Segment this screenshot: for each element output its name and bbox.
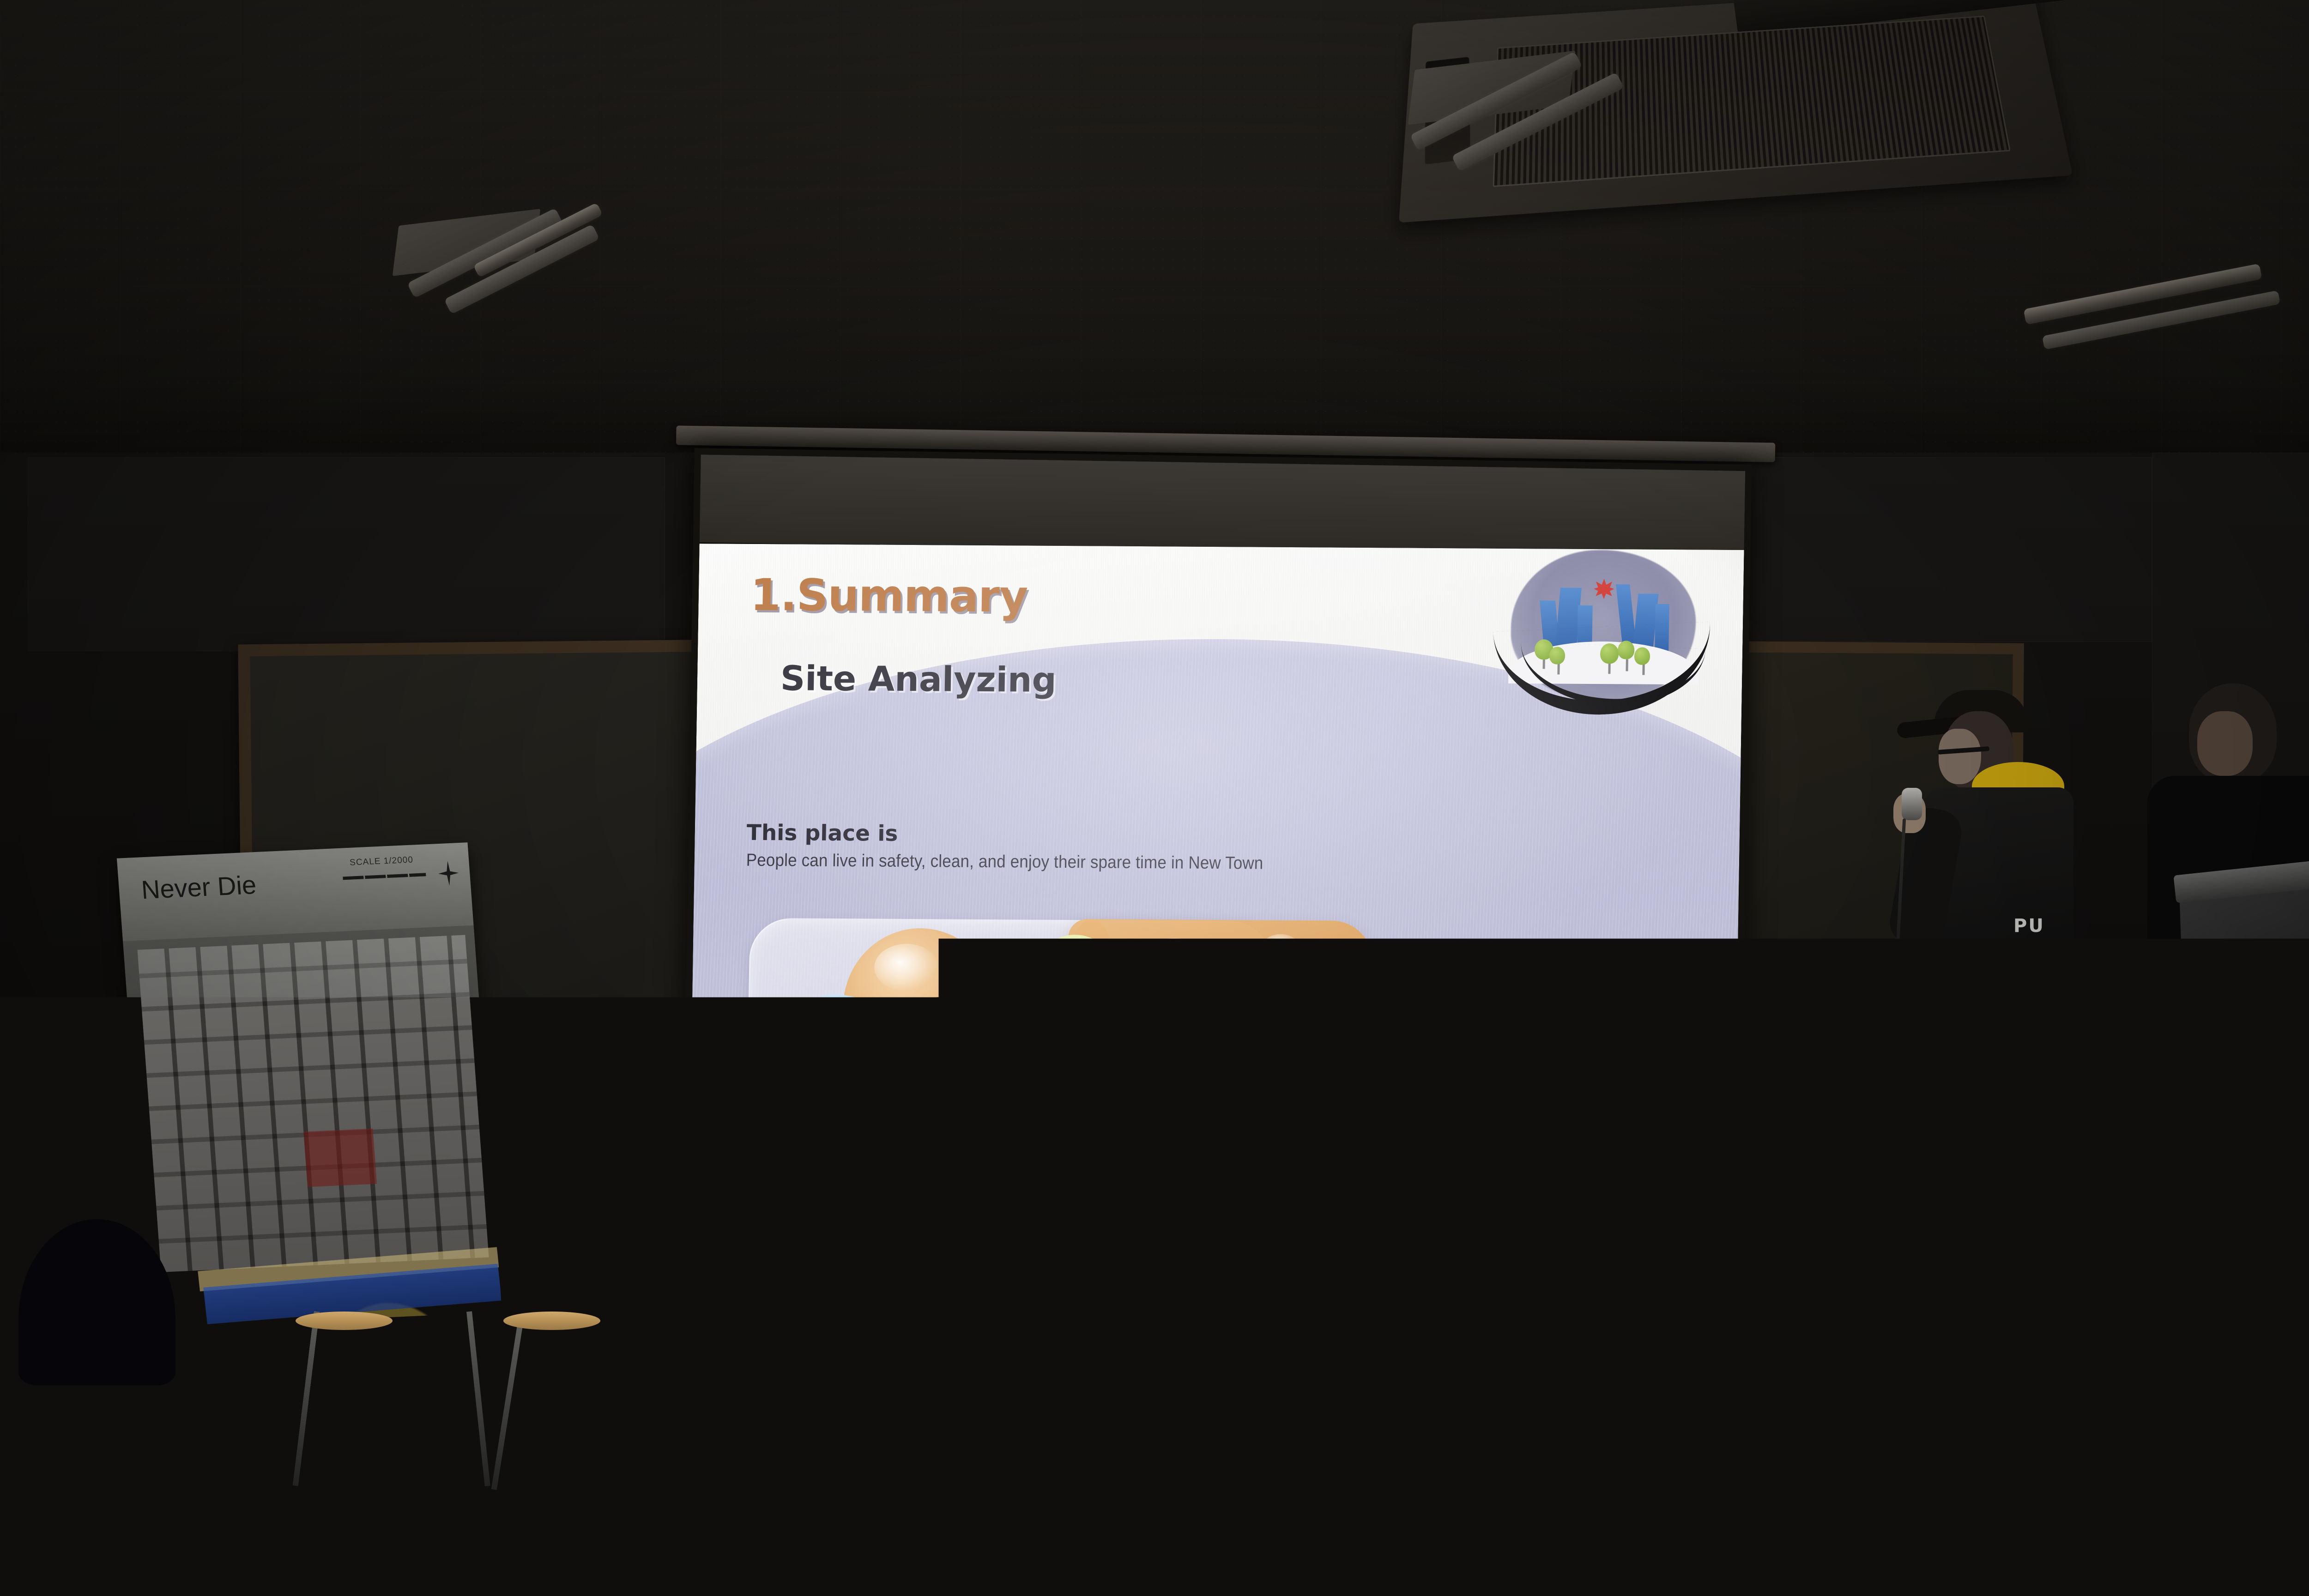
presenter-notes <box>1862 1039 1943 1099</box>
slide-footer: ND Engineering _ Daegu UNIV <box>741 1186 1017 1215</box>
fluorescent-tube <box>2024 264 2262 325</box>
projected-slide: 1.Summary Site Analyzing This place is P… <box>689 544 1744 1238</box>
presenter-legs <box>1940 1058 2056 1251</box>
wooden-chair-back <box>1657 1504 1815 1596</box>
stool-seat <box>296 1312 393 1330</box>
podium <box>2179 874 2309 1140</box>
slide-lead-bold: This place is <box>746 820 898 846</box>
bubble-diagram: Location Etc Physical Socilogic Reflect … <box>741 913 1512 1177</box>
slide-title: 1.Summary <box>750 570 1028 623</box>
jacket-logo: PU <box>2013 915 2045 937</box>
ceiling-light-fixture-right <box>2023 259 2309 425</box>
audience-member-body <box>1122 1256 1418 1596</box>
site-plan-poster: Never Die SCALE 1/2000 <box>117 842 502 1328</box>
poster-site-map <box>138 935 489 1272</box>
screen-top-band <box>700 454 1746 559</box>
wooden-chair-back <box>2078 1524 2226 1596</box>
skyline-logo <box>1491 544 1716 754</box>
ceiling-light-fixture-left <box>383 217 642 411</box>
presenter-face <box>1939 729 1981 784</box>
wall-panel <box>28 457 665 651</box>
wooden-chair-back <box>727 1392 894 1595</box>
map-red-block <box>303 1129 377 1187</box>
highlight-glint <box>1146 938 1202 974</box>
slide-lead-body: People can live in safety, clean, and en… <box>746 851 1263 874</box>
footer-affiliation: Engineering _ Daegu UNIV <box>786 1193 975 1213</box>
poster-title: Never Die <box>140 870 258 905</box>
outcome-primary-label: Reflect to <box>1178 980 1372 1016</box>
highlight-glint <box>1259 934 1301 968</box>
desk-row <box>259 1522 656 1552</box>
audience-member-body <box>0 1353 296 1596</box>
outcome-secondary-label: Our PLAN <box>1178 1027 1372 1048</box>
footer-brand-mark: ND <box>741 1186 775 1214</box>
second-person-face <box>2197 711 2253 776</box>
ceiling-light-fixture-center <box>1395 60 1690 272</box>
slide-canvas: 1.Summary Site Analyzing This place is P… <box>689 544 1744 1238</box>
stool-seat <box>503 1312 600 1330</box>
microphone <box>1902 788 1922 820</box>
slide-subtitle: Site Analyzing <box>780 659 1057 700</box>
lecture-room: 1.Summary Site Analyzing This place is P… <box>0 0 2309 1596</box>
